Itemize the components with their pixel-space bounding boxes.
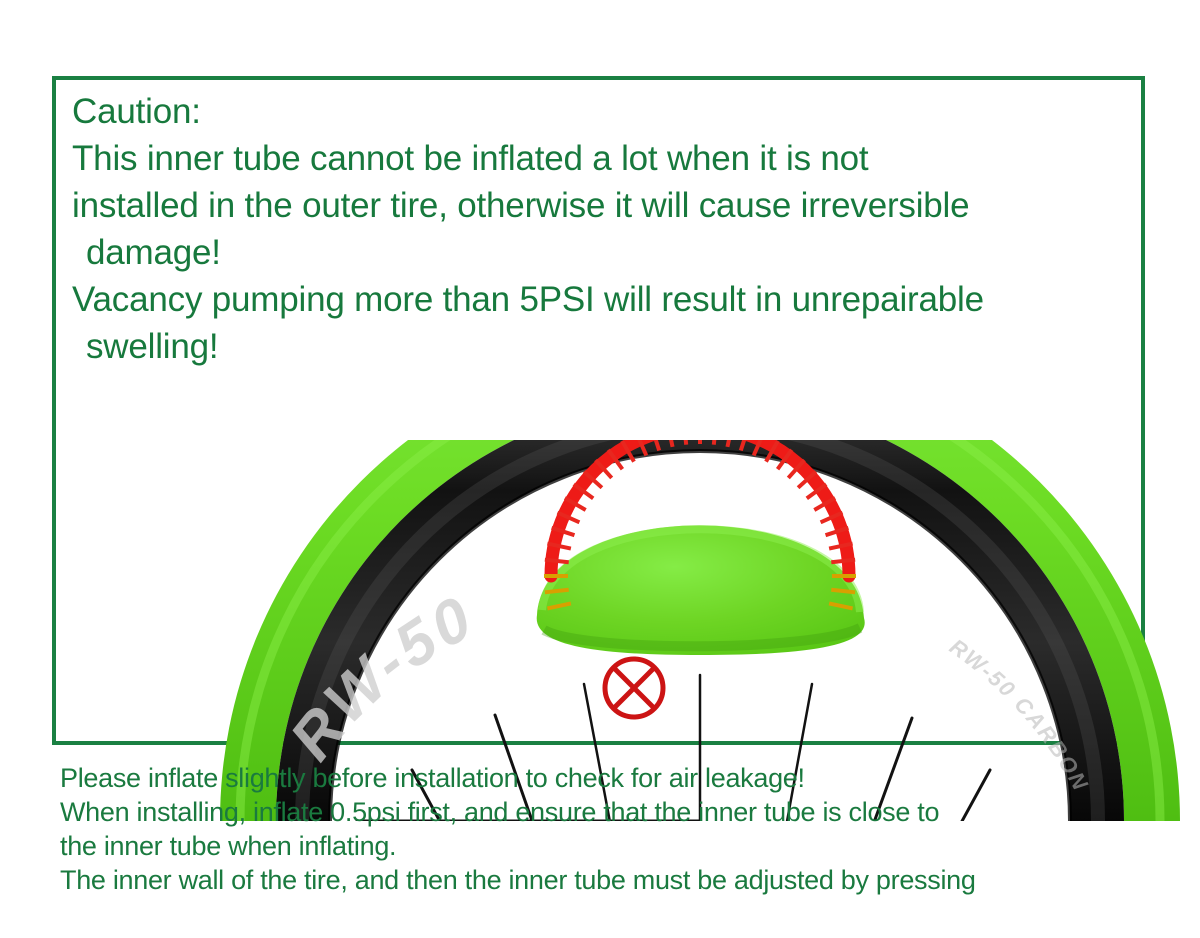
caution-line-5: swelling!: [72, 323, 1132, 370]
instruction-notes-block: Please inflate slightly before installat…: [60, 761, 1180, 897]
caution-heading: Caution:: [72, 88, 1132, 135]
circled-x-icon: [605, 659, 663, 717]
note-line-4: The inner wall of the tire, and then the…: [60, 863, 1180, 897]
caution-text-block: Caution: This inner tube cannot be infla…: [72, 88, 1132, 370]
note-line-2: When installing, inflate 0.5psi first, a…: [60, 795, 1180, 829]
caution-panel: Caution: This inner tube cannot be infla…: [52, 76, 1145, 745]
caution-line-1: This inner tube cannot be inflated a lot…: [72, 135, 1132, 182]
caution-line-4: Vacancy pumping more than 5PSI will resu…: [72, 276, 1132, 323]
caution-line-3: damage!: [72, 229, 1132, 276]
inner-tube-bulge: [537, 525, 865, 655]
note-line-3: the inner tube when inflating.: [60, 829, 1180, 863]
caution-line-2: installed in the outer tire, otherwise i…: [72, 182, 1132, 229]
note-line-1: Please inflate slightly before installat…: [60, 761, 1180, 795]
